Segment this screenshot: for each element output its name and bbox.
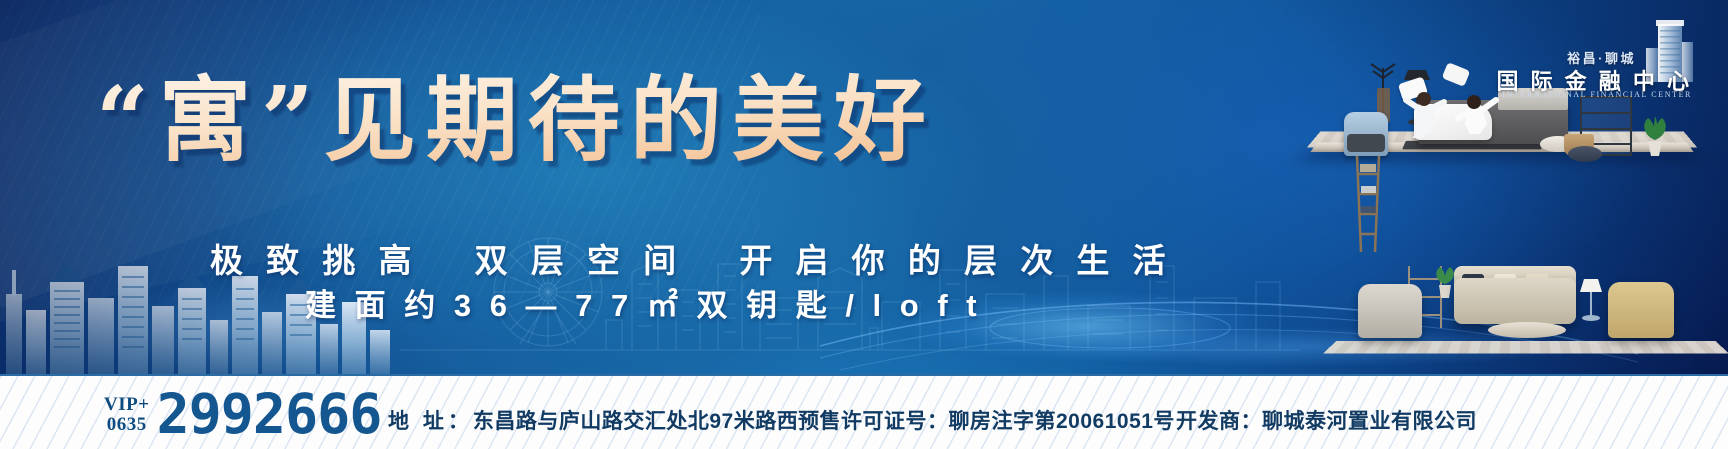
address-info: 地 址：东昌路与庐山路交汇处北97米路西 [388,405,798,435]
grey-armchair [1358,284,1422,338]
vip-label-line1: VIP+ [104,395,150,416]
person-left-figure [1400,90,1452,138]
loft-room-illustration [1168,96,1728,374]
address-value: 东昌路与庐山路交汇处北97米路西 [473,410,798,433]
lower-floor-surface [1323,341,1728,353]
headline-text: “寓”见期待的美好 [96,66,1196,174]
vip-prefix-label: VIP+ 0635 [104,395,150,442]
subtitle-area-suffix: 双 钥 匙 / l o f t [683,288,982,323]
hero-background: 裕昌·聊城 国 际 金 融 中 心 INTERNATIONAL FINANCIA… [0,0,1728,374]
developer-label: 开发商： [1176,410,1262,433]
round-ottoman-navy [1568,146,1602,162]
advertisement-banner: 裕昌·聊城 国 际 金 融 中 心 INTERNATIONAL FINANCIA… [0,0,1728,449]
subtitle-area-prefix: 建 面 约 3 6 — 7 7 [305,288,647,323]
coffee-table [1488,322,1566,338]
subtitle-features: 极 致 挑 高 双 层 空 间 开 启 你 的 层 次 生 活 [210,234,1173,282]
table-lamp-icon [1574,276,1608,322]
project-logo: 裕昌·聊城 国 际 金 融 中 心 INTERNATIONAL FINANCIA… [1510,16,1706,104]
subtitle-area: 建 面 约 3 6 — 7 7 ㎡ 双 钥 匙 / l o f t [305,280,982,325]
vip-label-line2: 0635 [104,415,150,436]
license-info: 预售许可证号：聊房注字第20061051号 [798,405,1175,435]
phone-number[interactable]: 2992666 [157,386,382,442]
logo-brand-english: INTERNATIONAL FINANCIAL CENTER [1502,90,1692,99]
developer-info: 开发商：聊城泰河置业有限公司 [1176,405,1477,435]
subtitle-area-unit: ㎡ [647,288,683,323]
address-label: 地 址： [388,410,473,433]
person-right-figure [1454,92,1504,136]
sofa [1454,278,1576,324]
blue-armchair [1344,112,1388,156]
footer-bar: VIP+ 0635 2992666 地 址：东昌路与庐山路交汇处北97米路西 预… [0,374,1728,449]
license-label: 预售许可证号： [798,410,949,433]
phone-block[interactable]: VIP+ 0635 2992666 [104,386,381,442]
license-value: 聊房注字第20061051号 [949,410,1175,433]
connecting-ladder-shelf [1350,156,1386,252]
tan-armchair [1608,282,1674,338]
potted-plant-upper [1638,114,1672,158]
developer-value: 聊城泰河置业有限公司 [1262,410,1477,433]
